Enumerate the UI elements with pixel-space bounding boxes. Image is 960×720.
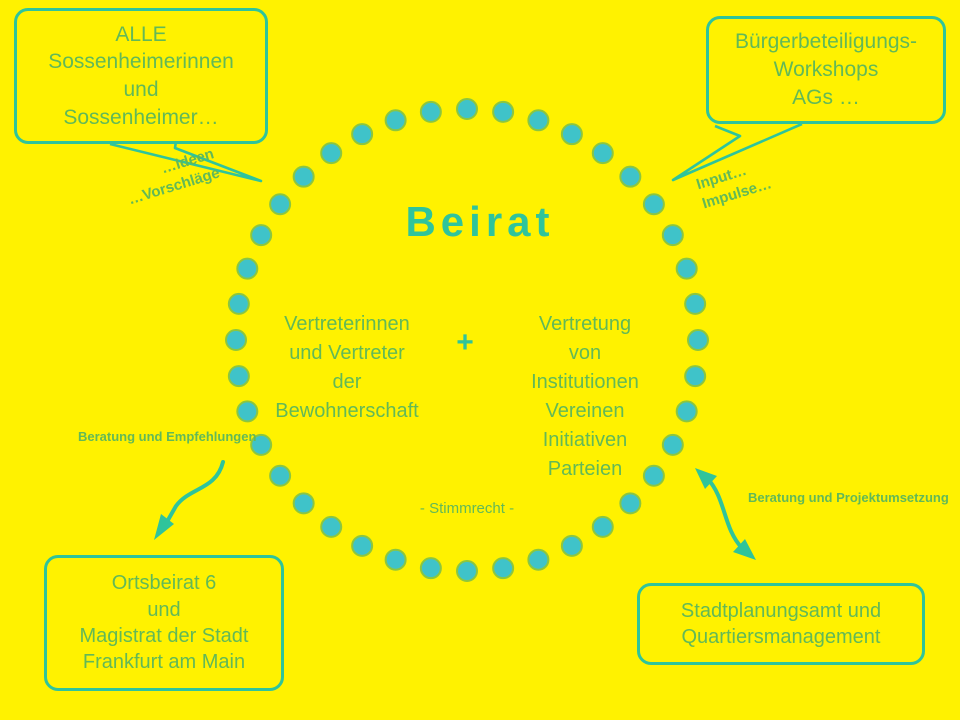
column-line: Vertretung <box>500 310 670 339</box>
arrow-beratung-projektumsetzung <box>707 478 742 548</box>
ring-dot <box>386 110 406 130</box>
box-line: Stadtplanungsamt und <box>681 598 881 624</box>
ring-dot <box>685 294 705 314</box>
ring-dot <box>562 536 582 556</box>
arrowhead-down-left <box>154 514 174 540</box>
column-line: Vereinen <box>500 397 670 426</box>
ring-dot <box>620 493 640 513</box>
arrowhead-down-right <box>733 539 756 560</box>
stimmrecht-note: - Stimmrecht - <box>337 500 597 517</box>
column-line: Bewohnerschaft <box>262 397 432 426</box>
ring-dot <box>352 536 372 556</box>
box-line: Ortsbeirat 6 <box>112 570 216 596</box>
column-line: der <box>262 368 432 397</box>
ring-dot <box>421 558 441 578</box>
ring-dot <box>321 143 341 163</box>
ring-dot <box>528 110 548 130</box>
column-line: Parteien <box>500 455 670 484</box>
ring-dot <box>562 124 582 144</box>
ring-dot <box>688 330 708 350</box>
column-line: von <box>500 339 670 368</box>
ring-dot <box>528 550 548 570</box>
annotation-line: Beratung und <box>78 429 163 444</box>
ring-dot <box>294 167 314 187</box>
bubble-line: Sossenheimer… <box>63 104 218 132</box>
ring-dot <box>620 167 640 187</box>
column-line: Vertreterinnen <box>262 310 432 339</box>
speech-bubble-alle: ALLE Sossenheimerinnen und Sossenheimer… <box>14 8 268 144</box>
bubble-line: und <box>123 76 158 104</box>
box-line: Magistrat der Stadt <box>80 623 249 649</box>
ring-dot <box>237 401 257 421</box>
speech-bubble-workshops: Bürgerbeteiligungs- Workshops AGs … <box>706 16 946 124</box>
ring-dot <box>593 143 613 163</box>
box-stadtplanungsamt: Stadtplanungsamt und Quartiersmanagement <box>637 583 925 665</box>
column-line: Institutionen <box>500 368 670 397</box>
ring-dot <box>677 259 697 279</box>
ring-dot <box>352 124 372 144</box>
bubble-line: AGs … <box>792 84 860 112</box>
box-ortsbeirat: Ortsbeirat 6 und Magistrat der Stadt Fra… <box>44 555 284 691</box>
bubble-line: Bürgerbeteiligungs- <box>735 28 917 56</box>
column-line: und Vertreter <box>262 339 432 368</box>
column-line: Initiativen <box>500 426 670 455</box>
box-line: Frankfurt am Main <box>83 649 245 675</box>
plus-icon: + <box>437 328 493 358</box>
ring-dot <box>226 330 246 350</box>
ring-dot <box>421 102 441 122</box>
ring-dot <box>677 401 697 421</box>
ring-dot <box>493 102 513 122</box>
ring-dot <box>270 466 290 486</box>
annotation-beratung-projektumsetzung: Beratung und Projektumsetzung <box>748 489 908 507</box>
annotation-beratung-empfehlungen: Beratung und Empfehlungen <box>78 428 208 446</box>
ring-dot <box>229 366 249 386</box>
arrow-beratung-empfehlungen <box>164 462 223 527</box>
ring-dot <box>321 517 341 537</box>
arrowhead-up-left <box>695 468 717 489</box>
ring-dot <box>229 294 249 314</box>
bubble-line: Workshops <box>774 56 879 84</box>
annotation-line: Empfehlungen <box>166 429 256 444</box>
ring-dot <box>386 550 406 570</box>
annotation-line: Projektumsetzung <box>836 490 949 505</box>
ring-dot <box>457 561 477 581</box>
diagram-canvas: ALLE Sossenheimerinnen und Sossenheimer…… <box>0 0 960 720</box>
ring-dot <box>593 517 613 537</box>
column-bewohnerschaft: Vertreterinnen und Vertreter der Bewohne… <box>262 310 432 426</box>
ring-dot <box>294 493 314 513</box>
bubble-line: Sossenheimerinnen <box>48 48 234 76</box>
box-line: und <box>147 597 180 623</box>
box-line: Quartiersmanagement <box>682 624 881 650</box>
column-institutionen: Vertretung von Institutionen Vereinen In… <box>500 310 670 484</box>
ring-dot <box>457 99 477 119</box>
ring-dot <box>237 259 257 279</box>
ring-dot <box>493 558 513 578</box>
bubble-line: ALLE <box>115 21 166 49</box>
ring-dot <box>685 366 705 386</box>
annotation-line: Beratung und <box>748 490 833 505</box>
